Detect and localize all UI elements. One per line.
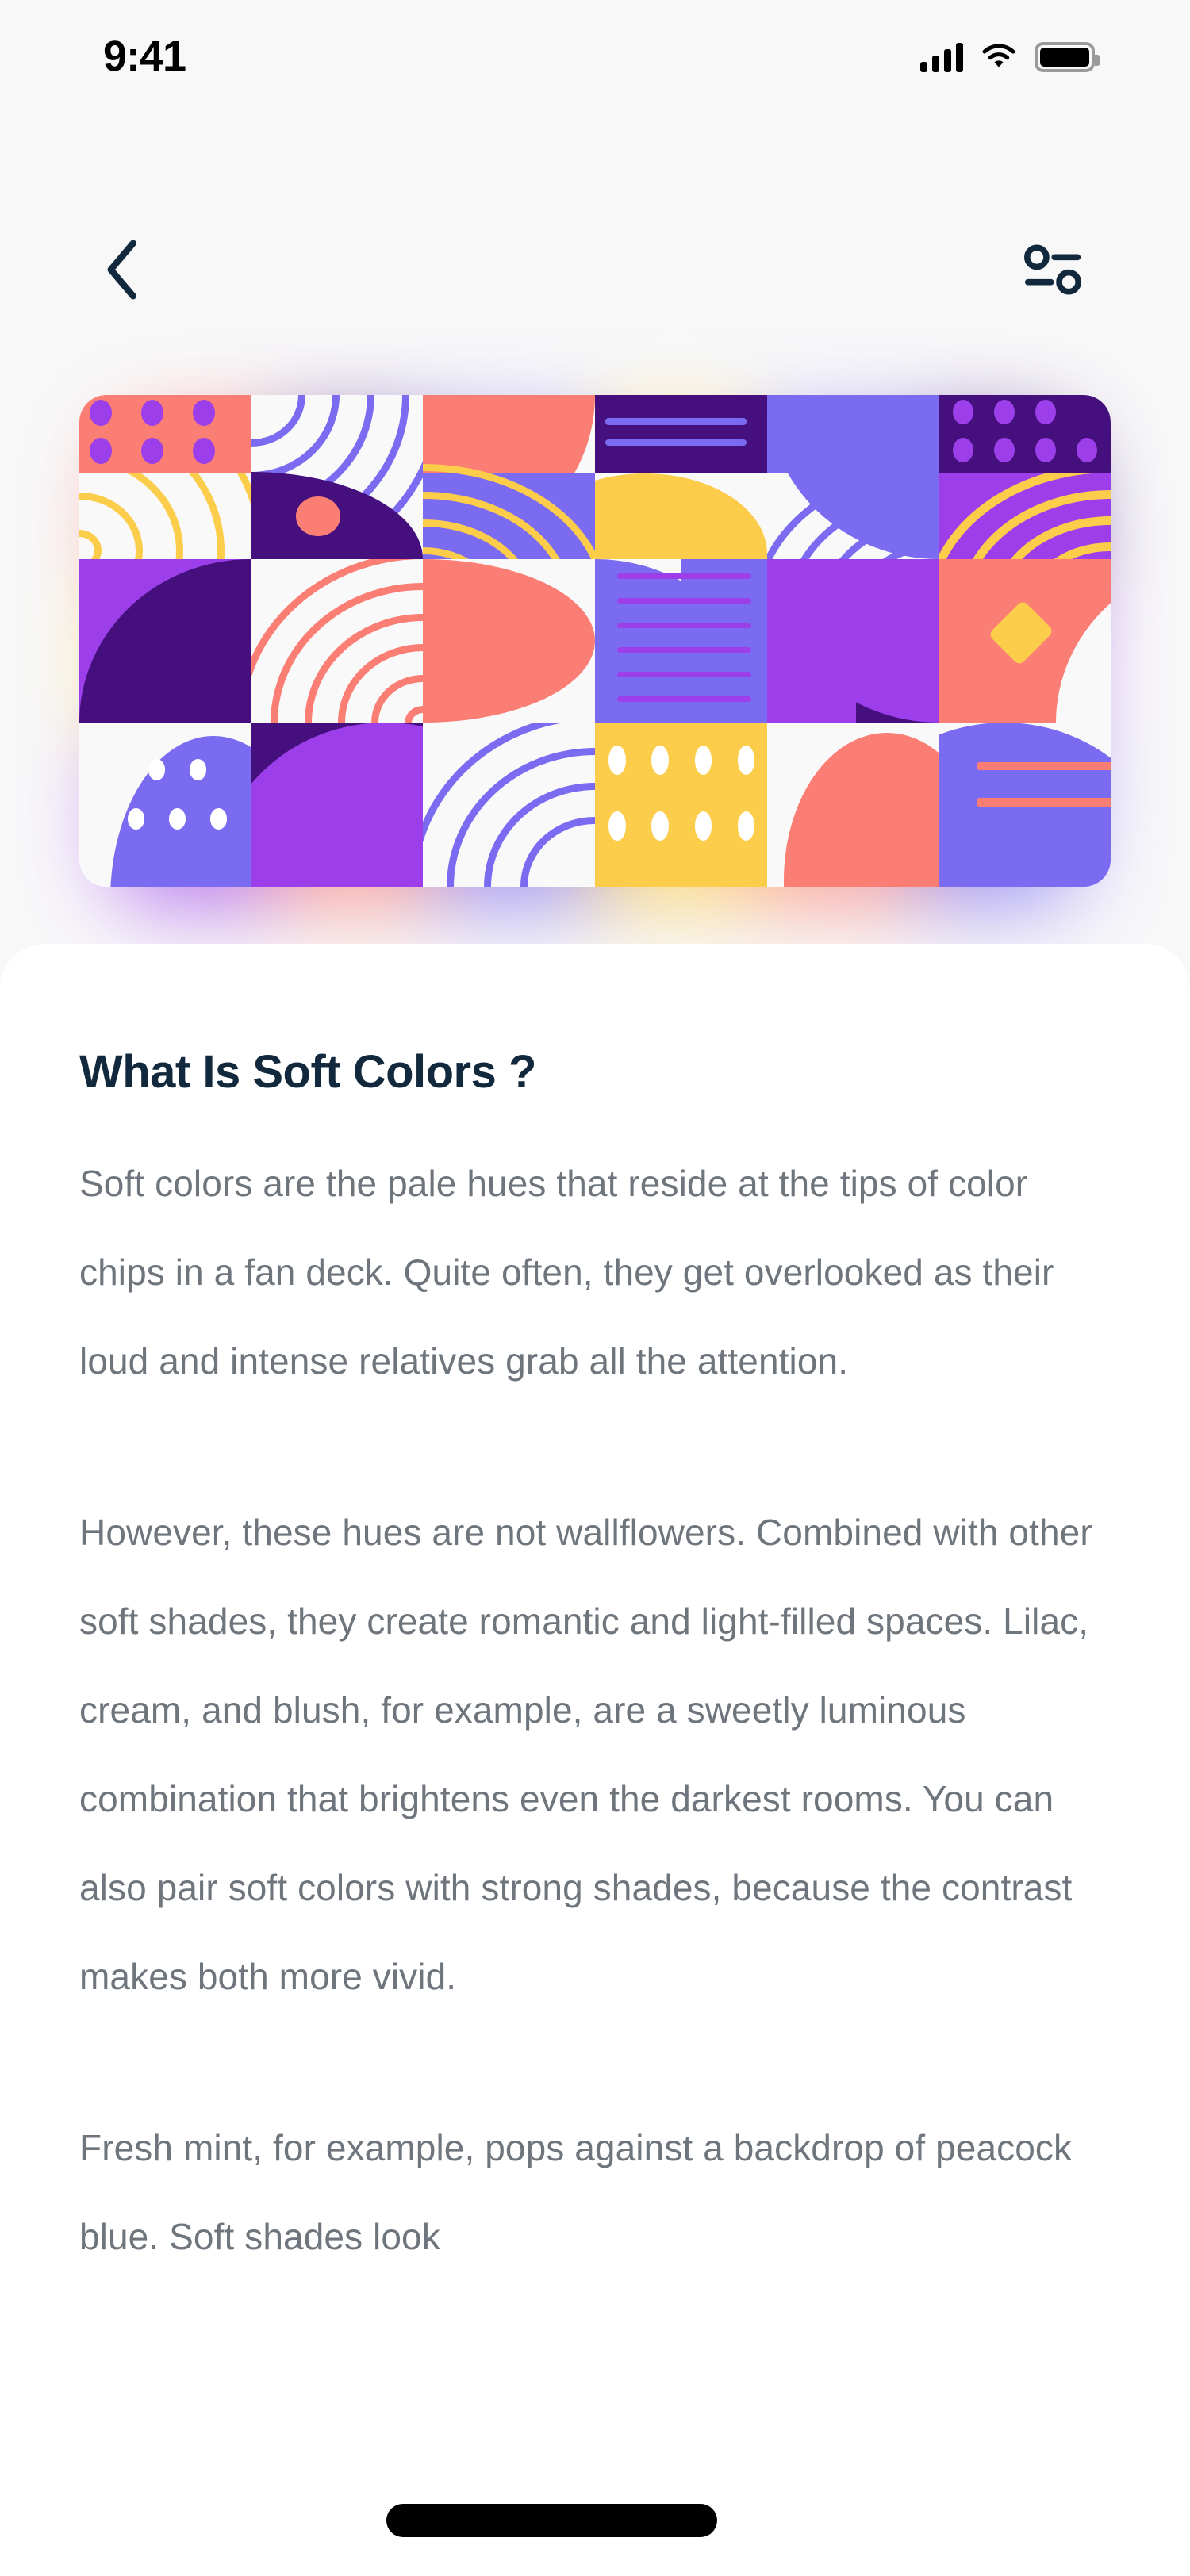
pattern-tile-r1c4 xyxy=(595,395,767,559)
status-bar-indicators xyxy=(920,42,1095,72)
coral-half-circle xyxy=(423,559,595,723)
status-bar-time: 9:41 xyxy=(103,35,186,78)
coral-arc-rings xyxy=(251,559,424,723)
pattern-tile-r2c3 xyxy=(423,559,595,723)
wifi-icon xyxy=(981,43,1017,71)
redaction-bar xyxy=(386,2504,717,2537)
coral-line-stack xyxy=(939,723,1111,887)
pattern-tile-r2c1 xyxy=(79,559,251,723)
violet-dot-grid xyxy=(939,395,1111,559)
periwinkle-arc-rings xyxy=(423,723,595,887)
hero-pattern-artwork[interactable] xyxy=(79,395,1111,887)
coral-circle xyxy=(784,733,939,887)
article-paragraph-2: However, these hues are not wallflowers.… xyxy=(79,1488,1111,2021)
pattern-tile-r1c2 xyxy=(251,395,424,559)
violet-line-stack xyxy=(595,559,767,723)
pattern-tile-r2c2 xyxy=(251,559,424,723)
page-title: What Is Soft Colors ? xyxy=(79,1047,1111,1098)
article-paragraph-1: Soft colors are the pale hues that resid… xyxy=(79,1139,1111,1405)
article-card: What Is Soft Colors ? Soft colors are th… xyxy=(0,944,1190,2576)
pattern-tile-r1c1 xyxy=(79,395,251,559)
pattern-tile-r3c4 xyxy=(595,723,767,887)
pattern-tile-r1c3 xyxy=(423,395,595,559)
coral-dot xyxy=(296,496,340,536)
settings-sliders-icon xyxy=(1023,241,1083,298)
white-dot-grid xyxy=(79,723,251,887)
purple-dot-grid xyxy=(79,395,251,559)
article-paragraph-3: Fresh mint, for example, pops against a … xyxy=(79,2103,1111,2281)
cellular-signal-icon xyxy=(920,42,963,72)
white-dot-grid xyxy=(595,723,767,887)
pattern-tile-r3c6 xyxy=(939,723,1111,887)
pattern-tile-r2c6 xyxy=(939,559,1111,723)
navigation-bar xyxy=(0,214,1190,325)
chevron-left-icon xyxy=(98,237,148,302)
pattern-tile-r2c5 xyxy=(767,559,939,723)
hero-image-container xyxy=(79,395,1111,887)
phone-screen: 9:41 xyxy=(0,0,1190,2576)
pattern-tile-r2c4 xyxy=(595,559,767,723)
pattern-tile-r1c6 xyxy=(939,395,1111,559)
pattern-tile-r3c1 xyxy=(79,723,251,887)
settings-menu-button[interactable] xyxy=(1009,226,1096,313)
back-button[interactable] xyxy=(79,226,167,313)
pattern-tile-r3c3 xyxy=(423,723,595,887)
battery-icon xyxy=(1035,42,1095,72)
violet-block xyxy=(767,559,857,723)
pattern-tile-r1c5 xyxy=(767,395,939,559)
periwinkle-arc-rings xyxy=(767,464,939,559)
yellow-arc-rings xyxy=(423,464,595,559)
pattern-tile-r3c5 xyxy=(767,723,939,887)
status-bar: 9:41 xyxy=(0,0,1190,103)
pattern-tile-r3c2 xyxy=(251,723,424,887)
